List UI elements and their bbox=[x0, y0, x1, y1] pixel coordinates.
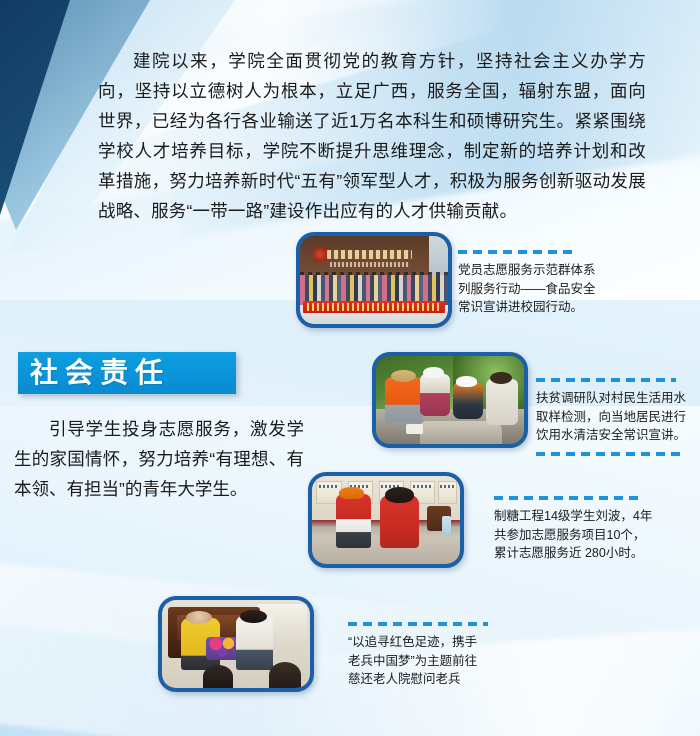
section-paragraph-text: 引导学生投身志愿服务，激发学生的家国情怀，努力培养“有理想、有本领、有担当”的青… bbox=[14, 414, 304, 504]
caption-primary-school: 党员志愿服务示范群体系 列服务行动——食品安全 常识宣讲进校园行动。 bbox=[458, 250, 628, 317]
sample-bag bbox=[406, 424, 424, 435]
dashed-rule-icon bbox=[536, 452, 684, 456]
volunteer-seated bbox=[380, 495, 418, 548]
volunteer-with-notebook bbox=[420, 374, 450, 416]
caption-water-sampling: 扶贫调研队对村民生活用水 取样检测，向当地居民进行 饮用水清洁安全常识宣讲。 bbox=[536, 378, 700, 456]
flower-bouquet bbox=[206, 637, 239, 660]
caption-line: 列服务行动——食品安全 bbox=[458, 280, 628, 299]
foreground-person-2 bbox=[269, 662, 302, 688]
dashed-rule-icon bbox=[536, 378, 676, 382]
dashed-rule-icon bbox=[348, 622, 488, 626]
school-name-sign bbox=[327, 250, 413, 259]
caption-line: 老兵中国梦”为主题前往 bbox=[348, 652, 518, 671]
foreground-person-1 bbox=[203, 665, 233, 688]
villager bbox=[486, 379, 519, 425]
elderly-visit-photo bbox=[158, 596, 314, 692]
caption-line: 党员志愿服务示范群体系 bbox=[458, 261, 628, 280]
student-volunteer bbox=[236, 616, 273, 671]
volunteer-red-vest bbox=[336, 494, 372, 549]
caption-line: 慈还老人院慰问老兵 bbox=[348, 670, 518, 689]
red-event-banner bbox=[303, 301, 445, 312]
volunteer-seated-head bbox=[385, 487, 415, 503]
elderly-veteran-head bbox=[186, 611, 213, 624]
white-cap-1 bbox=[423, 367, 444, 378]
water-bottle bbox=[442, 516, 451, 535]
photo-content bbox=[300, 236, 448, 324]
poster-page: 建院以来，学院全面贯彻党的教育方针，坚持社会主义办学方向，坚持以立德树人为根本，… bbox=[0, 0, 700, 736]
volunteer-crouching bbox=[453, 382, 483, 419]
intro-paragraph-text: 建院以来，学院全面贯彻党的教育方针，坚持社会主义办学方向，坚持以立德树人为根本，… bbox=[98, 46, 646, 226]
dashed-rule-icon bbox=[458, 250, 576, 254]
white-cap-2 bbox=[456, 376, 477, 387]
section-title-text: 社会责任 bbox=[18, 352, 236, 394]
school-name-sign-english bbox=[330, 262, 410, 266]
caption-line: 制糖工程14级学生刘波，4年 bbox=[494, 507, 670, 526]
caption-line: 常识宣讲进校园行动。 bbox=[458, 298, 628, 317]
section-paragraph-block: 引导学生投身志愿服务，激发学生的家国情怀，努力培养“有理想、有本领、有担当”的青… bbox=[14, 414, 304, 504]
caption-line: 取样检测，向当地居民进行 bbox=[536, 408, 700, 427]
photo-content bbox=[162, 600, 310, 688]
school-crest-icon bbox=[313, 247, 326, 261]
section-title-banner: 社会责任 bbox=[18, 352, 236, 394]
indoor-survey-photo bbox=[308, 472, 464, 568]
dashed-rule-icon bbox=[494, 496, 642, 500]
caption-line: 共参加志愿服务项目10个， bbox=[494, 526, 670, 545]
photo-content bbox=[376, 356, 524, 444]
caption-line: “以追寻红色足迹，携手 bbox=[348, 633, 518, 652]
wall-poster-5 bbox=[438, 481, 457, 504]
caption-elderly-visit: “以追寻红色足迹，携手 老兵中国梦”为主题前往 慈还老人院慰问老兵 bbox=[348, 622, 518, 689]
orange-cap bbox=[339, 487, 364, 498]
primary-school-group-photo bbox=[296, 232, 452, 328]
caption-line: 饮用水清洁安全常识宣讲。 bbox=[536, 426, 700, 445]
caption-sugar-engineering-student: 制糖工程14级学生刘波，4年 共参加志愿服务项目10个， 累计志愿服务近 280… bbox=[494, 496, 670, 563]
volunteer-orange-vest bbox=[385, 377, 423, 423]
caption-line: 扶贫调研队对村民生活用水 bbox=[536, 389, 700, 408]
intro-paragraph-block: 建院以来，学院全面贯彻党的教育方针，坚持社会主义办学方向，坚持以立德树人为根本，… bbox=[98, 46, 646, 226]
photo-content bbox=[312, 476, 460, 564]
student-volunteer-head bbox=[240, 610, 267, 623]
water-sampling-photo bbox=[372, 352, 528, 448]
caption-line: 累计志愿服务近 280小时。 bbox=[494, 544, 670, 563]
